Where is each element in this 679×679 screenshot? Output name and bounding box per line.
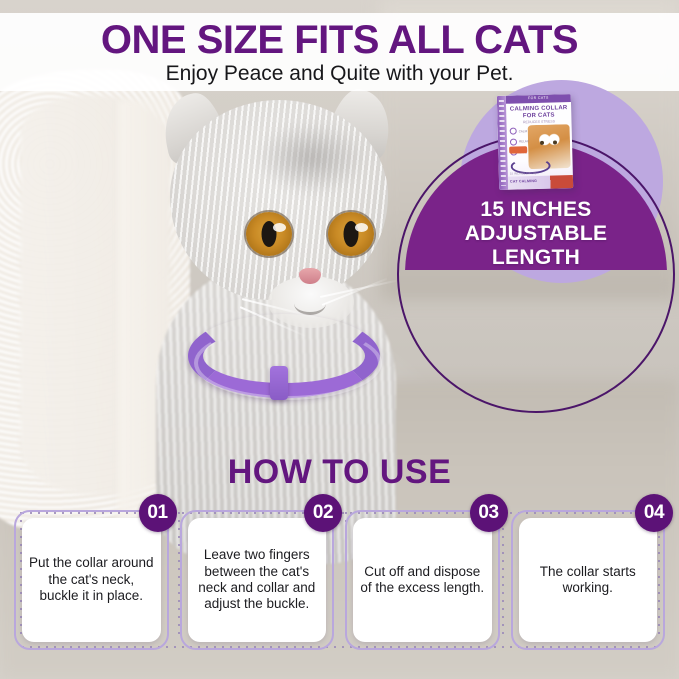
package-top-label: FOR CATS	[506, 95, 571, 101]
step-card-3[interactable]: Cut off and dispose of the excess length…	[345, 510, 500, 650]
badge-line-3: LENGTH	[393, 246, 679, 270]
step-text: Put the collar around the cat's neck, bu…	[28, 555, 155, 604]
package-feature-label: CALM	[519, 129, 527, 133]
step-body: Put the collar around the cat's neck, bu…	[22, 518, 161, 642]
cat-eye-glint-right	[355, 223, 368, 232]
package-cat-eye-right	[553, 140, 557, 144]
step-number-badge: 02	[304, 494, 342, 532]
step-text: Cut off and dispose of the excess length…	[359, 564, 486, 597]
package-feature-item: CALM	[510, 127, 534, 135]
package-ribbon-badge	[509, 146, 527, 153]
step-number-badge: 01	[139, 494, 177, 532]
step-body: Cut off and dispose of the excess length…	[353, 518, 492, 642]
collar-buckle	[270, 366, 288, 400]
page-title: ONE SIZE FITS ALL CATS	[0, 20, 679, 60]
how-to-use-steps: Put the collar around the cat's neck, bu…	[14, 510, 665, 650]
step-number-badge: 04	[635, 494, 673, 532]
package-feature-label: RELAX	[519, 139, 529, 143]
step-body: Leave two fingers between the cat's neck…	[188, 518, 327, 642]
step-card-4[interactable]: The collar starts working. 04	[511, 510, 666, 650]
badge-line-2: ADJUSTABLE	[393, 222, 679, 246]
cat-eye-right	[328, 212, 374, 256]
badge-text: 15 INCHES ADJUSTABLE LENGTH	[393, 198, 679, 270]
collar-highlight	[194, 326, 382, 400]
package-bottom-label: CAT CALMING	[510, 179, 537, 184]
step-card-2[interactable]: Leave two fingers between the cat's neck…	[180, 510, 335, 650]
step-card-1[interactable]: Put the collar around the cat's neck, bu…	[14, 510, 169, 650]
package-feature-item: RELAX	[510, 138, 534, 146]
step-text: The collar starts working.	[525, 564, 652, 597]
length-badge: 15 INCHES ADJUSTABLE LENGTH FOR CATS CAL…	[393, 88, 679, 293]
step-body: The collar starts working.	[519, 518, 658, 642]
cat-eye-left	[246, 212, 292, 256]
check-icon	[510, 138, 517, 145]
product-infographic: ONE SIZE FITS ALL CATS Enjoy Peace and Q…	[0, 0, 679, 679]
package-bottom-bar: CAT CALMING	[508, 175, 573, 190]
package-feature-list: CALM RELAX SAFE	[510, 127, 535, 159]
package-cat-eye-left	[540, 141, 544, 145]
purple-cat-collar	[188, 314, 380, 398]
check-icon	[510, 127, 517, 134]
how-to-use-title: HOW TO USE	[0, 455, 679, 489]
badge-line-1: 15 INCHES	[393, 198, 679, 222]
cat-forehead-markings	[256, 122, 366, 194]
package-top-bar: FOR CATS	[506, 94, 571, 104]
product-package: FOR CATS CALMING COLLAR FOR CATS REDUCES…	[497, 94, 573, 190]
package-caption: 15 INCHES (38 cm)	[510, 171, 537, 176]
step-number-badge: 03	[470, 494, 508, 532]
cat-head	[170, 100, 388, 300]
cat-eye-glint-left	[273, 223, 286, 232]
package-title: CALMING COLLAR FOR CATS	[508, 105, 569, 120]
step-text: Leave two fingers between the cat's neck…	[194, 547, 321, 613]
